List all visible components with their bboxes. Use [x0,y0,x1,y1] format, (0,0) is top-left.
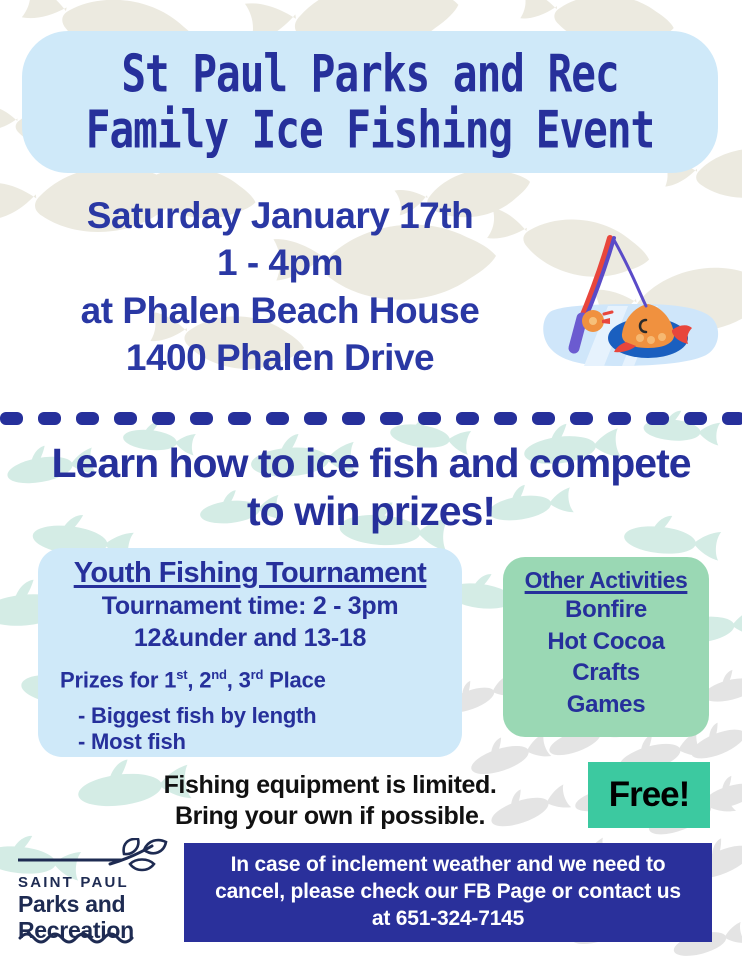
equipment-note: Fishing equipment is limited. Bring your… [120,770,540,831]
logo-name: Parks and Recreation [18,892,134,944]
title-banner: St Paul Parks and Rec Family Ice Fishing… [22,31,718,173]
event-date: Saturday January 17th [0,192,560,239]
event-details: Saturday January 17th 1 - 4pm at Phalen … [0,192,560,381]
event-venue: at Phalen Beach House [0,287,560,334]
activity-item-games: Games [503,689,709,721]
title-line-2: Family Ice Fishing Event [86,101,654,159]
prizes-text-b: , 2 [187,667,211,692]
ice-fishing-flyer: St Paul Parks and Rec Family Ice Fishing… [0,0,742,960]
tournament-criterion-2: - Most fish [78,729,462,755]
weather-notice-line-1: In case of inclement weather and we need… [231,852,666,879]
tournament-age-groups: 12&under and 13-18 [38,623,462,654]
prizes-text-c: , 3 [227,667,251,692]
prizes-sup-1: st [176,667,187,682]
inclement-weather-notice: In case of inclement weather and we need… [184,843,712,942]
equipment-note-line-1: Fishing equipment is limited. [120,770,540,801]
headline-line-2: to win prizes! [0,488,742,536]
activity-item-crafts: Crafts [503,657,709,689]
weather-notice-line-2: cancel, please check our FB Page or cont… [215,879,681,906]
tournament-prizes-line: Prizes for 1st, 2nd, 3rd Place [60,667,462,693]
youth-tournament-box: Youth Fishing Tournament Tournament time… [38,548,462,757]
logo-eyebrow: SAINT PAUL [18,874,129,891]
weather-notice-line-3: at 651-324-7145 [372,906,524,933]
headline: Learn how to ice fish and compete to win… [0,440,742,535]
prizes-text-d: Place [263,667,325,692]
tournament-time: Tournament time: 2 - 3pm [38,591,462,622]
free-badge: Free! [588,762,710,828]
activity-item-bonfire: Bonfire [503,594,709,626]
event-time: 1 - 4pm [0,239,560,286]
logo-name-line-1: Parks and [18,892,134,918]
prizes-sup-3: rd [251,667,264,682]
title-line-1: St Paul Parks and Rec [121,45,618,103]
saint-paul-parks-recreation-logo: SAINT PAUL Parks and Recreation [14,838,174,948]
dashed-divider [0,412,742,425]
ice-fishing-illustration [536,214,736,386]
other-activities-box: Other Activities Bonfire Hot Cocoa Craft… [503,557,709,737]
activity-item-hot-cocoa: Hot Cocoa [503,626,709,658]
prizes-sup-2: nd [211,667,226,682]
free-badge-label: Free! [609,775,690,815]
activities-title: Other Activities [503,567,709,594]
tournament-title: Youth Fishing Tournament [38,557,462,590]
logo-name-line-2: Recreation [18,918,134,944]
equipment-note-line-2: Bring your own if possible. [120,801,540,832]
tournament-criterion-1: - Biggest fish by length [78,703,462,729]
event-address: 1400 Phalen Drive [0,334,560,381]
headline-line-1: Learn how to ice fish and compete [0,440,742,488]
prizes-text-a: Prizes for 1 [60,667,176,692]
